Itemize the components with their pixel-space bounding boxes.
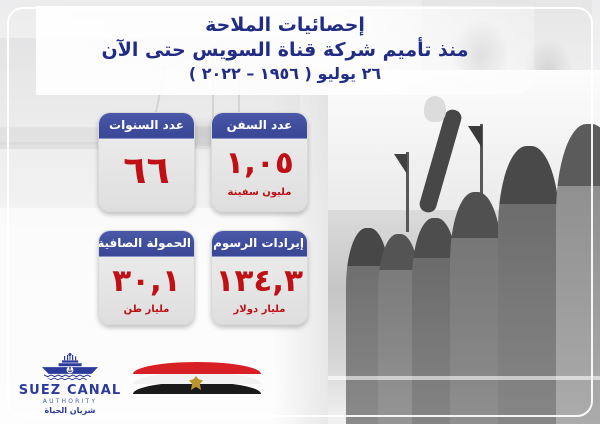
page-date-range: ٢٦ يوليو ( ١٩٥٦ – ٢٠٢٢ ) <box>50 63 520 85</box>
logo-subtitle-text: AUTHORITY <box>18 398 122 405</box>
suez-canal-authority-logo: SUEZ CANAL AUTHORITY شريان الحياة <box>18 352 122 415</box>
pennant-shape <box>468 126 482 148</box>
ship-anchor-logo-icon <box>34 352 106 382</box>
stat-card-body: ٣٠,١ مليار طن <box>99 257 194 325</box>
logo-name-text: SUEZ CANAL <box>18 383 122 398</box>
stat-card-body: ١٣٤,٣ مليار دولار <box>212 257 307 325</box>
balcony-rail-shape <box>328 376 600 380</box>
stat-card-unit: مليون سفينة <box>216 187 303 198</box>
infographic-poster: إحصائيات الملاحة منذ تأميم شركة قناة الس… <box>0 0 600 424</box>
stat-card-unit: مليار طن <box>103 304 190 315</box>
stat-card-label: الحمولة الصافية <box>99 231 194 257</box>
stat-card-body: ١,٠٥ مليون سفينة <box>212 139 307 207</box>
crowd-figure <box>498 146 560 424</box>
stat-card-value: ٦٦ <box>103 147 190 195</box>
stat-card-value: ٣٠,١ <box>103 265 190 298</box>
waving-hand-shape <box>424 96 446 122</box>
logo-arabic-tagline: شريان الحياة <box>18 406 122 415</box>
stat-card-net-tonnage: الحمولة الصافية ٣٠,١ مليار طن <box>98 230 195 326</box>
stat-card-value: ١,٠٥ <box>216 147 303 180</box>
statistics-card-grid: عدد السنوات ٦٦ عدد السفن ١,٠٥ مليون سفين… <box>98 112 316 325</box>
card-row-top: عدد السنوات ٦٦ عدد السفن ١,٠٥ مليون سفين… <box>98 112 316 212</box>
stat-card-toll-revenue: إيرادات الرسوم ١٣٤,٣ مليار دولار <box>211 230 308 326</box>
historical-photo-background <box>328 70 600 424</box>
stat-card-years: عدد السنوات ٦٦ <box>98 112 195 212</box>
stat-card-label: إيرادات الرسوم <box>212 231 307 257</box>
page-subtitle: منذ تأميم شركة قناة السويس حتى الآن <box>50 38 520 63</box>
card-row-bottom: الحمولة الصافية ٣٠,١ مليار طن إيرادات ال… <box>98 230 316 326</box>
stat-card-label: عدد السنوات <box>99 113 194 139</box>
title-panel: إحصائيات الملاحة منذ تأميم شركة قناة الس… <box>36 6 534 95</box>
stat-card-body: ٦٦ <box>99 139 194 211</box>
pennant-shape <box>394 154 407 174</box>
flag-band-red <box>133 362 261 374</box>
egypt-flag-ribbon <box>133 360 261 404</box>
stat-card-value: ١٣٤,٣ <box>216 265 303 298</box>
stat-card-label: عدد السفن <box>212 113 307 139</box>
stat-card-ships: عدد السفن ١,٠٥ مليون سفينة <box>211 112 308 212</box>
stat-card-unit: مليار دولار <box>216 304 303 315</box>
page-title: إحصائيات الملاحة <box>50 14 520 38</box>
crowd-figure <box>450 192 502 424</box>
